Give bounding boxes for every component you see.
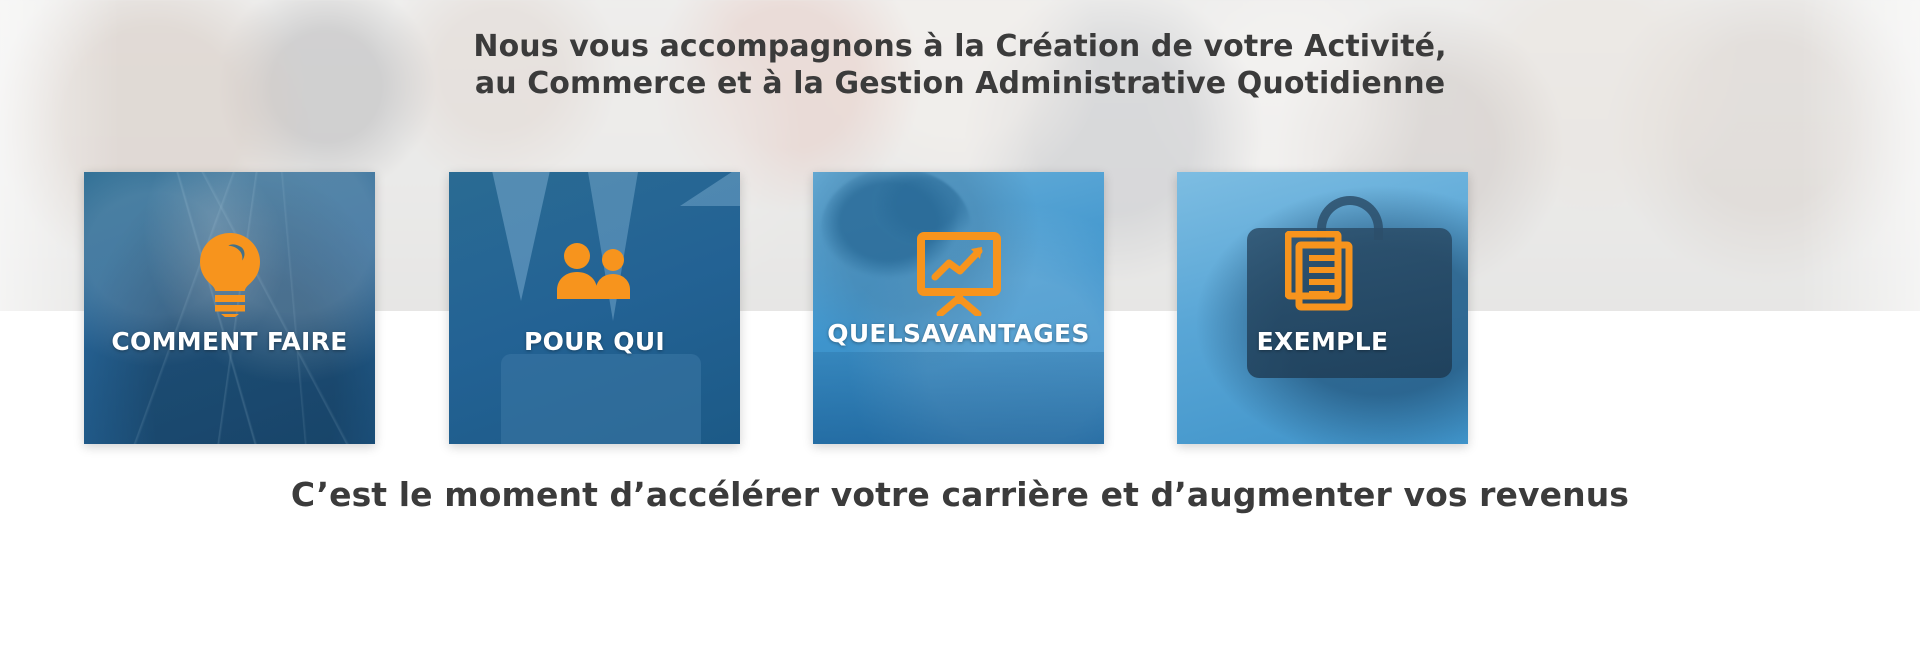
bottom-tagline: C’est le moment d’accélérer votre carriè… — [0, 475, 1920, 514]
headline-line-2: au Commerce et à la Gestion Administrati… — [0, 65, 1920, 102]
card-quels-avantages[interactable]: QUELSAVANTAGES — [813, 172, 1104, 444]
card-label: COMMENT FAIRE — [84, 314, 375, 444]
card-label-line2: AVANTAGES — [921, 318, 1089, 349]
headline-line-1: Nous vous accompagnons à la Création de … — [0, 28, 1920, 65]
lightbulb-icon — [84, 222, 375, 326]
card-label: POUR QUI — [449, 314, 740, 444]
feature-cards-row: COMMENT FAIRE POUR QUI — [0, 172, 1920, 447]
people-group-icon — [449, 222, 740, 326]
card-label-line1: QUELS — [827, 318, 921, 349]
documents-stack-icon — [1177, 222, 1468, 326]
card-label: EXEMPLE — [1177, 314, 1468, 444]
card-comment-faire[interactable]: COMMENT FAIRE — [84, 172, 375, 444]
card-exemple[interactable]: EXEMPLE — [1177, 172, 1468, 444]
page-headline: Nous vous accompagnons à la Création de … — [0, 28, 1920, 102]
card-pour-qui[interactable]: POUR QUI — [449, 172, 740, 444]
presentation-chart-icon — [813, 222, 1104, 326]
card-label: QUELSAVANTAGES — [813, 314, 1104, 444]
